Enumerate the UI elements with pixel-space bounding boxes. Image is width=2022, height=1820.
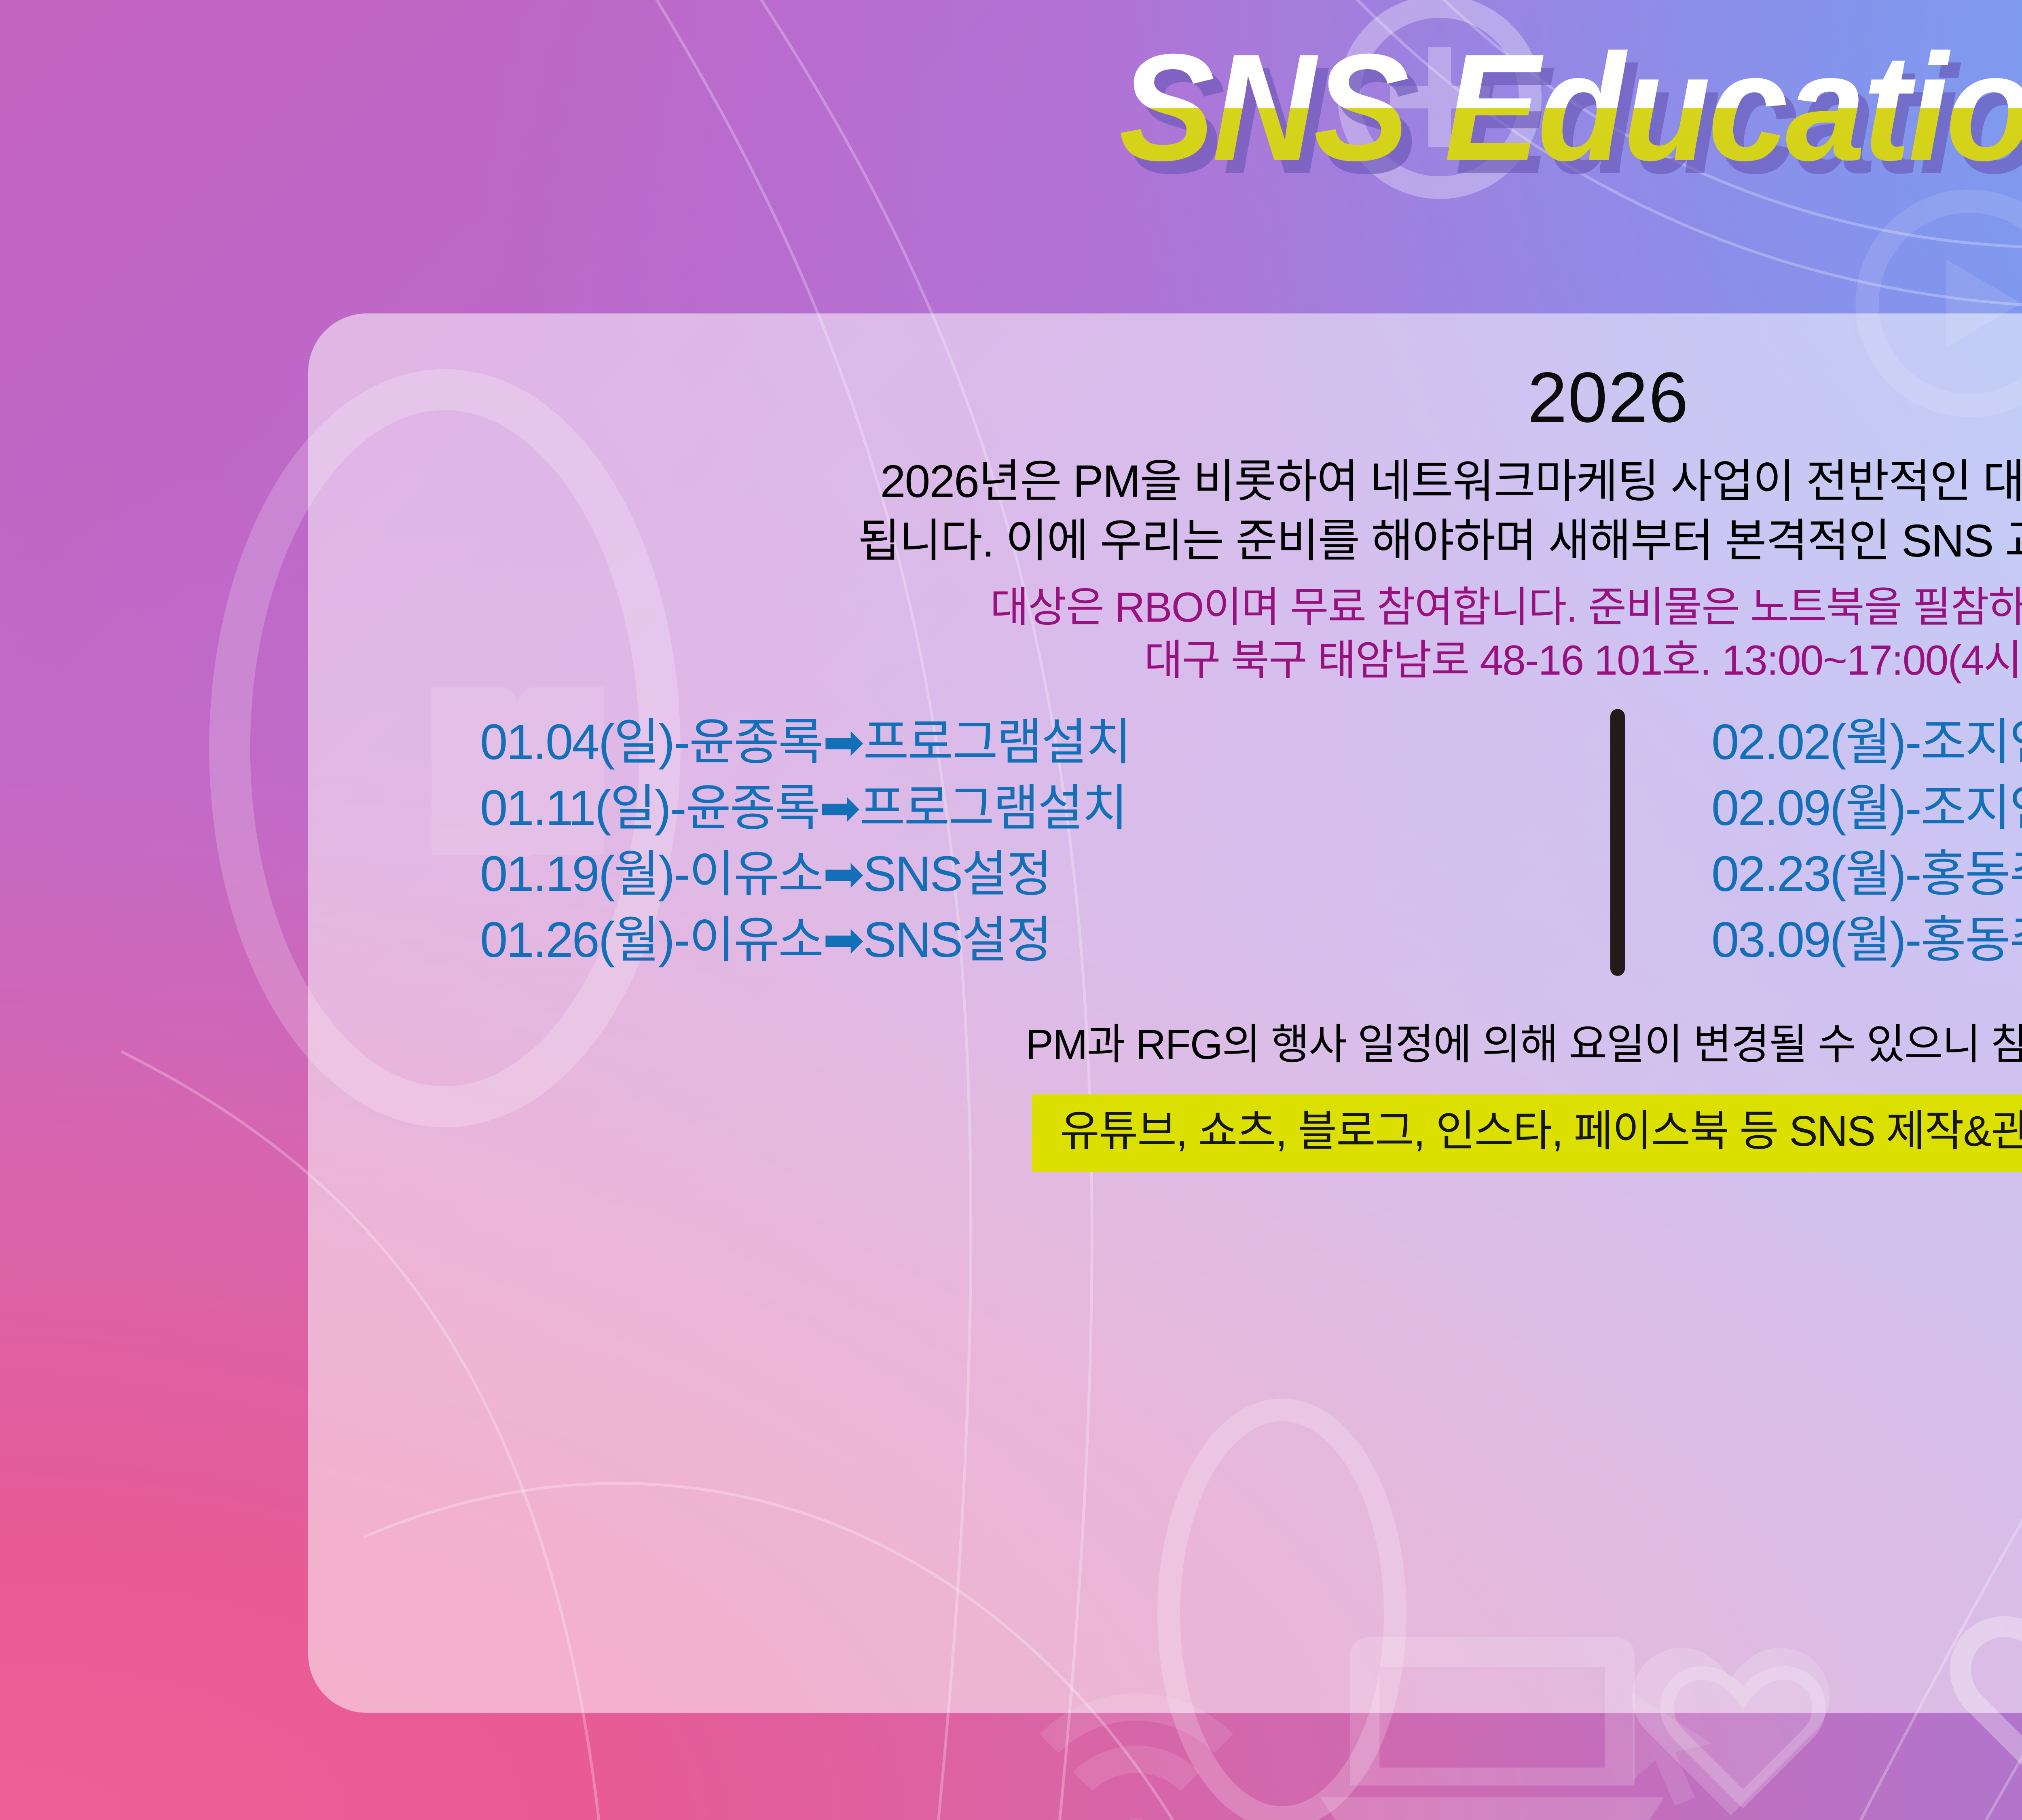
footnote-text: PM과 RFG의 행사 일정에 의해 요일이 변경될 수 있으니 참조하세요. [345,1010,2022,1071]
notice-line: 대구 북구 태암남로 48-16 101호. 13:00~17:00(4시간) [345,634,2022,687]
notice-paragraph: 대상은 RBO이며 무료 참여합니다. 준비물은 노트북을 필참하셔야합니다. … [345,581,2022,687]
schedule-row: 01.19(월)-이유소➡SNS설정 [480,845,1608,904]
content-card: 2026 2026년은 PM을 비롯하여 네트워크마케팅 사업이 전반적인 대 … [308,313,2022,1713]
schedule-row: 02.02(월)-조지연➡사진,영상편집 [1711,713,2022,772]
notice-line: 대상은 RBO이며 무료 참여합니다. 준비물은 노트북을 필참하셔야합니다. [345,581,2022,634]
poster-headline-container: SNS Education [0,34,2022,181]
sns-education-poster: SNS Education 2026 2026년은 PM을 비롯하여 네트워크마… [0,0,2022,1820]
schedule-table: 01.04(일)-윤종록➡프로그램설치 01.11(일)-윤종록➡프로그램설치 … [345,713,2022,970]
poster-headline: SNS Education [1119,30,2022,185]
schedule-row: 01.26(월)-이유소➡SNS설정 [480,911,1608,969]
schedule-row: 02.09(월)-조지연➡사진,영상편집 [1711,779,2022,838]
intro-line: 됩니다. 이에 우리는 준비를 해야하며 새해부터 본격적인 SNS 교육을 실… [345,511,2022,571]
schedule-row: 01.04(일)-윤종록➡프로그램설치 [480,713,1608,772]
schedule-column-divider [1610,709,1625,976]
schedule-row: 01.11(일)-윤종록➡프로그램설치 [480,779,1608,838]
highlight-banner: 유튜브, 쇼츠, 블로그, 인스타, 페이스북 등 SNS 제작&관리 능력 [1032,1094,2022,1172]
highlight-banner-container: 유튜브, 쇼츠, 블로그, 인스타, 페이스북 등 SNS 제작&관리 능력 [345,1094,2022,1172]
year-heading: 2026 [345,313,2022,433]
intro-paragraph: 2026년은 PM을 비롯하여 네트워크마케팅 사업이 전반적인 대 변화를 맞… [345,452,2022,571]
schedule-row: 03.09(월)-홍동주➡PPT사용법 [1711,911,2022,969]
schedule-column-right: 02.02(월)-조지연➡사진,영상편집 02.09(월)-조지연➡사진,영상편… [1608,713,2022,970]
intro-line: 2026년은 PM을 비롯하여 네트워크마케팅 사업이 전반적인 대 변화를 맞… [345,452,2022,511]
schedule-row: 02.23(월)-홍동주➡PPT사용법 [1711,845,2022,904]
schedule-column-left: 01.04(일)-윤종록➡프로그램설치 01.11(일)-윤종록➡프로그램설치 … [436,713,1608,970]
